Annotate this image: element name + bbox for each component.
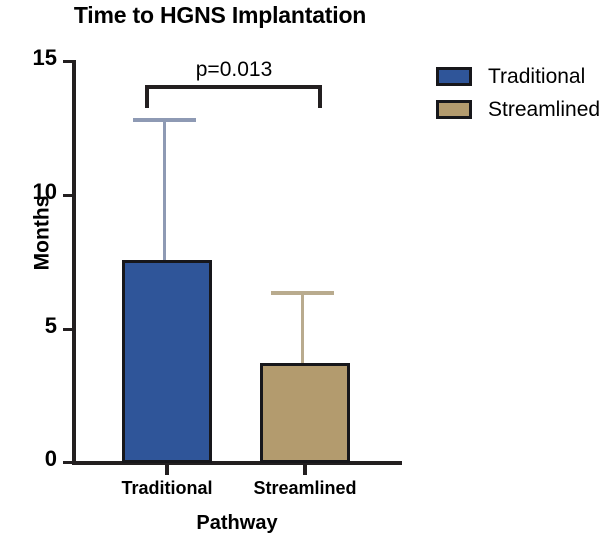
- y-axis-tick-label-15: 15: [33, 47, 57, 69]
- legend-swatch-streamlined-icon: [436, 100, 472, 119]
- x-axis-tick-traditional: [165, 464, 169, 475]
- legend: Traditional Streamlined: [436, 60, 606, 126]
- error-bar-cap-streamlined: [271, 291, 334, 295]
- legend-swatch-traditional-icon: [436, 67, 472, 86]
- y-axis-tick-label-0: 0: [45, 448, 57, 470]
- x-axis-tick-label-traditional: Traditional: [121, 478, 212, 499]
- x-axis-tick-label-streamlined: Streamlined: [253, 478, 356, 499]
- legend-label-streamlined: Streamlined: [488, 98, 600, 122]
- y-axis-tick-0: 0: [63, 461, 72, 464]
- y-axis-tick-10: 10: [63, 194, 72, 197]
- y-axis-tick-5: 5: [63, 328, 72, 331]
- bar-streamlined[interactable]: [260, 363, 350, 463]
- y-axis-title: Months: [30, 196, 54, 271]
- legend-item-traditional[interactable]: Traditional: [436, 60, 606, 93]
- chart-figure: Time to HGNS Implantation 15 10 5 0 Mont…: [0, 0, 606, 537]
- legend-item-streamlined[interactable]: Streamlined: [436, 93, 606, 126]
- plot-area: 15 10 5 0 Months Traditional Streamlined…: [72, 60, 402, 462]
- y-axis-tick-15: 15: [63, 60, 72, 63]
- legend-label-traditional: Traditional: [488, 65, 585, 89]
- y-axis-tick-label-5: 5: [45, 315, 57, 337]
- chart-title: Time to HGNS Implantation: [0, 0, 440, 30]
- y-axis-line: [72, 60, 76, 462]
- significance-bracket: [145, 85, 322, 108]
- bar-traditional[interactable]: [122, 260, 212, 463]
- error-bar-line-streamlined: [301, 293, 304, 373]
- x-axis-tick-streamlined: [303, 464, 307, 475]
- p-value-annotation: p=0.013: [196, 58, 273, 82]
- x-axis-title: Pathway: [72, 512, 402, 535]
- error-bar-cap-traditional: [133, 118, 196, 122]
